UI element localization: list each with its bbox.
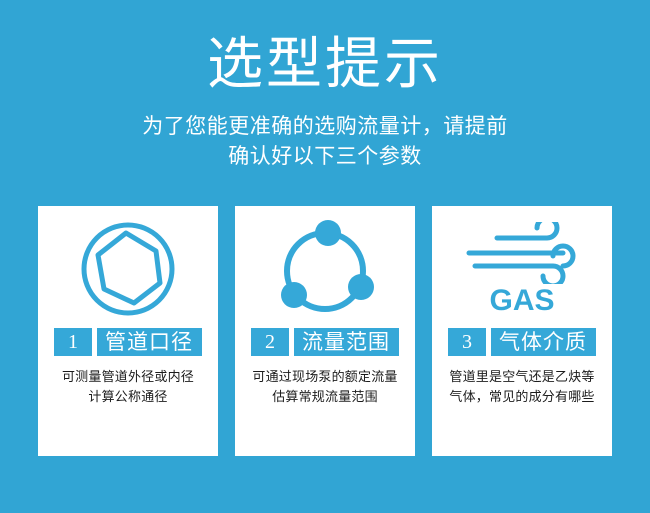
card-title: 管道口径	[97, 328, 202, 356]
tip-card-pipe-diameter[interactable]: 1 管道口径 可测量管道外径或内径 计算公称通径	[38, 206, 218, 456]
tip-card-flow-range[interactable]: 2 流量范围 可通过现场泵的额定流量 估算常规流量范围	[235, 206, 415, 456]
card-description-line-1: 管道里是空气还是乙炔等	[438, 367, 606, 387]
tip-card-gas-medium[interactable]: GAS 3 气体介质 管道里是空气还是乙炔等 气体，常见的成分有哪些	[432, 206, 612, 456]
card-title: 流量范围	[294, 328, 399, 356]
card-description-line-1: 可通过现场泵的额定流量	[241, 367, 409, 387]
card-badge: 3 气体介质	[448, 328, 596, 356]
card-description: 可测量管道外径或内径 计算公称通径	[38, 367, 218, 407]
card-badge: 1 管道口径	[54, 328, 202, 356]
page-title: 选型提示	[0, 0, 650, 94]
subtitle-line-2: 确认好以下三个参数	[0, 142, 650, 172]
flow-range-icon	[235, 206, 415, 326]
pipe-diameter-icon	[38, 206, 218, 326]
card-number: 2	[251, 328, 289, 356]
page-subtitle: 为了您能更准确的选购流量计，请提前 确认好以下三个参数	[0, 94, 650, 173]
card-description-line-1: 可测量管道外径或内径	[44, 367, 212, 387]
card-badge: 2 流量范围	[251, 328, 399, 356]
card-title: 气体介质	[491, 328, 596, 356]
card-number: 1	[54, 328, 92, 356]
subtitle-line-1: 为了您能更准确的选购流量计，请提前	[0, 112, 650, 142]
card-description: 管道里是空气还是乙炔等 气体，常见的成分有哪些	[432, 367, 612, 407]
card-description-line-2: 气体，常见的成分有哪些	[438, 387, 606, 407]
card-description-line-2: 估算常规流量范围	[241, 387, 409, 407]
card-number: 3	[448, 328, 486, 356]
banner-header: 选型提示 为了您能更准确的选购流量计，请提前 确认好以下三个参数	[0, 0, 650, 173]
gas-wind-icon: GAS	[432, 206, 612, 326]
card-description: 可通过现场泵的额定流量 估算常规流量范围	[235, 367, 415, 407]
gas-text-label: GAS	[489, 286, 554, 316]
tips-card-list: 1 管道口径 可测量管道外径或内径 计算公称通径 2	[38, 206, 612, 456]
card-description-line-2: 计算公称通径	[44, 387, 212, 407]
selection-tips-banner: 选型提示 为了您能更准确的选购流量计，请提前 确认好以下三个参数 1 管道口径 …	[0, 0, 650, 513]
